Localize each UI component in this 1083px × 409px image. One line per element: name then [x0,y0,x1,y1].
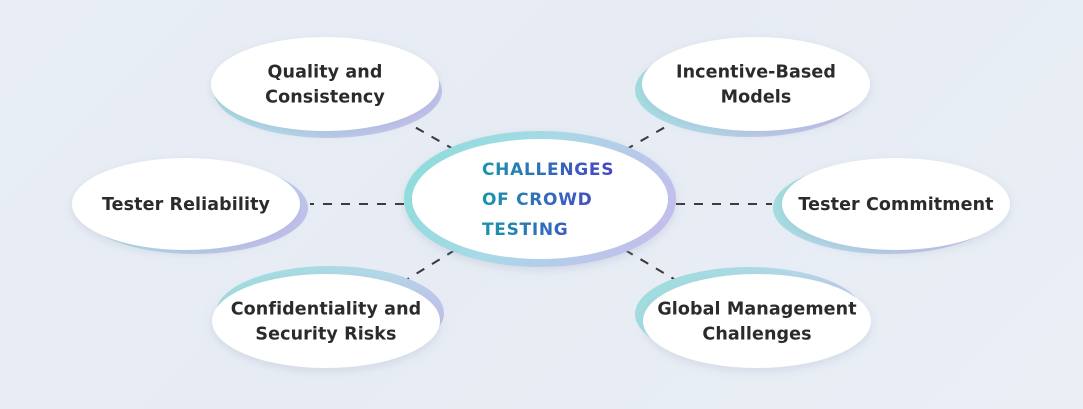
node-quality-and-consistency[interactable]: Quality andConsistency [211,37,442,138]
node-label-line: Quality and [268,63,383,83]
node-label-line: Challenges [702,325,811,345]
node-ellipse [643,274,871,368]
center-label-line: TESTING [482,220,568,240]
node-label-line: Global Management [657,300,856,320]
node-confidentiality-and-security-risks[interactable]: Confidentiality andSecurity Risks [212,266,444,368]
center-label-line: OF CROWD [482,190,592,210]
node-label-line: Models [721,88,792,108]
node-tester-reliability[interactable]: Tester Reliability [72,158,308,254]
node-label-line: Security Risks [255,325,396,345]
node-label-line: Tester Reliability [102,195,271,215]
node-label-line: Confidentiality and [231,300,422,320]
node-label-line: Tester Commitment [798,195,993,215]
node-label: Tester Commitment [798,195,993,215]
mindmap-diagram: Quality andConsistencyIncentive-BasedMod… [0,0,1083,409]
node-label-line: Incentive-Based [676,63,836,83]
node-incentive-based-models[interactable]: Incentive-BasedModels [635,37,870,137]
center-label-line: CHALLENGES [482,160,614,180]
node-ellipse [211,37,439,131]
node-ellipse [212,274,440,368]
diagram-canvas: Quality andConsistencyIncentive-BasedMod… [0,0,1083,409]
node-ellipse [642,37,870,131]
node-label: Tester Reliability [102,195,271,215]
node-tester-commitment[interactable]: Tester Commitment [773,158,1010,254]
center-node-challenges-of-crowd-testing[interactable]: CHALLENGESOF CROWDTESTING [408,135,672,263]
node-global-management-challenges[interactable]: Global ManagementChallenges [635,267,871,368]
center-node-layer: CHALLENGESOF CROWDTESTING [408,135,672,263]
node-label-line: Consistency [265,88,385,108]
